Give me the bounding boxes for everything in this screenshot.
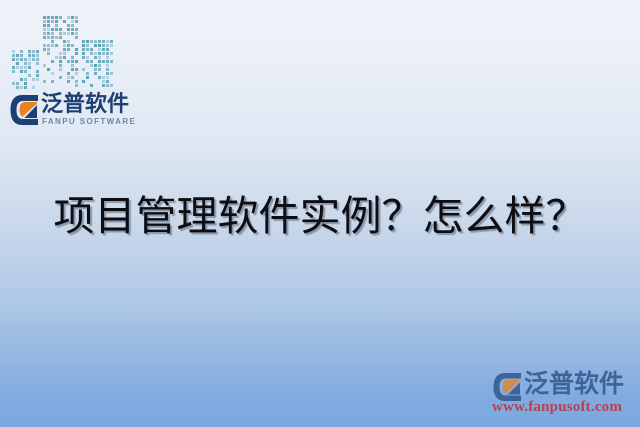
watermark-chinese-text: 泛普软件 [524,369,624,399]
page-title: 项目管理软件实例？怎么样？ [0,190,640,242]
fanpu-logo-english-text: FANPU SOFTWARE [42,117,136,126]
fanpu-logo-chinese-text: 泛普软件 [41,92,129,118]
watermark: 泛普软件 www.fanpusoft.com [490,367,630,419]
slide-canvas: 泛普软件 FANPU SOFTWARE 项目管理软件实例？怎么样？ 泛普软件 w… [0,0,640,427]
pixel-city-buildings-icon [12,14,112,90]
fanpu-logo-mark-icon [10,94,40,126]
watermark-url: www.fanpusoft.com [492,399,622,416]
brand-block: 泛普软件 FANPU SOFTWARE [8,12,138,132]
watermark-logo-mark-icon [493,372,523,402]
fanpu-logo: 泛普软件 FANPU SOFTWARE [8,90,138,136]
